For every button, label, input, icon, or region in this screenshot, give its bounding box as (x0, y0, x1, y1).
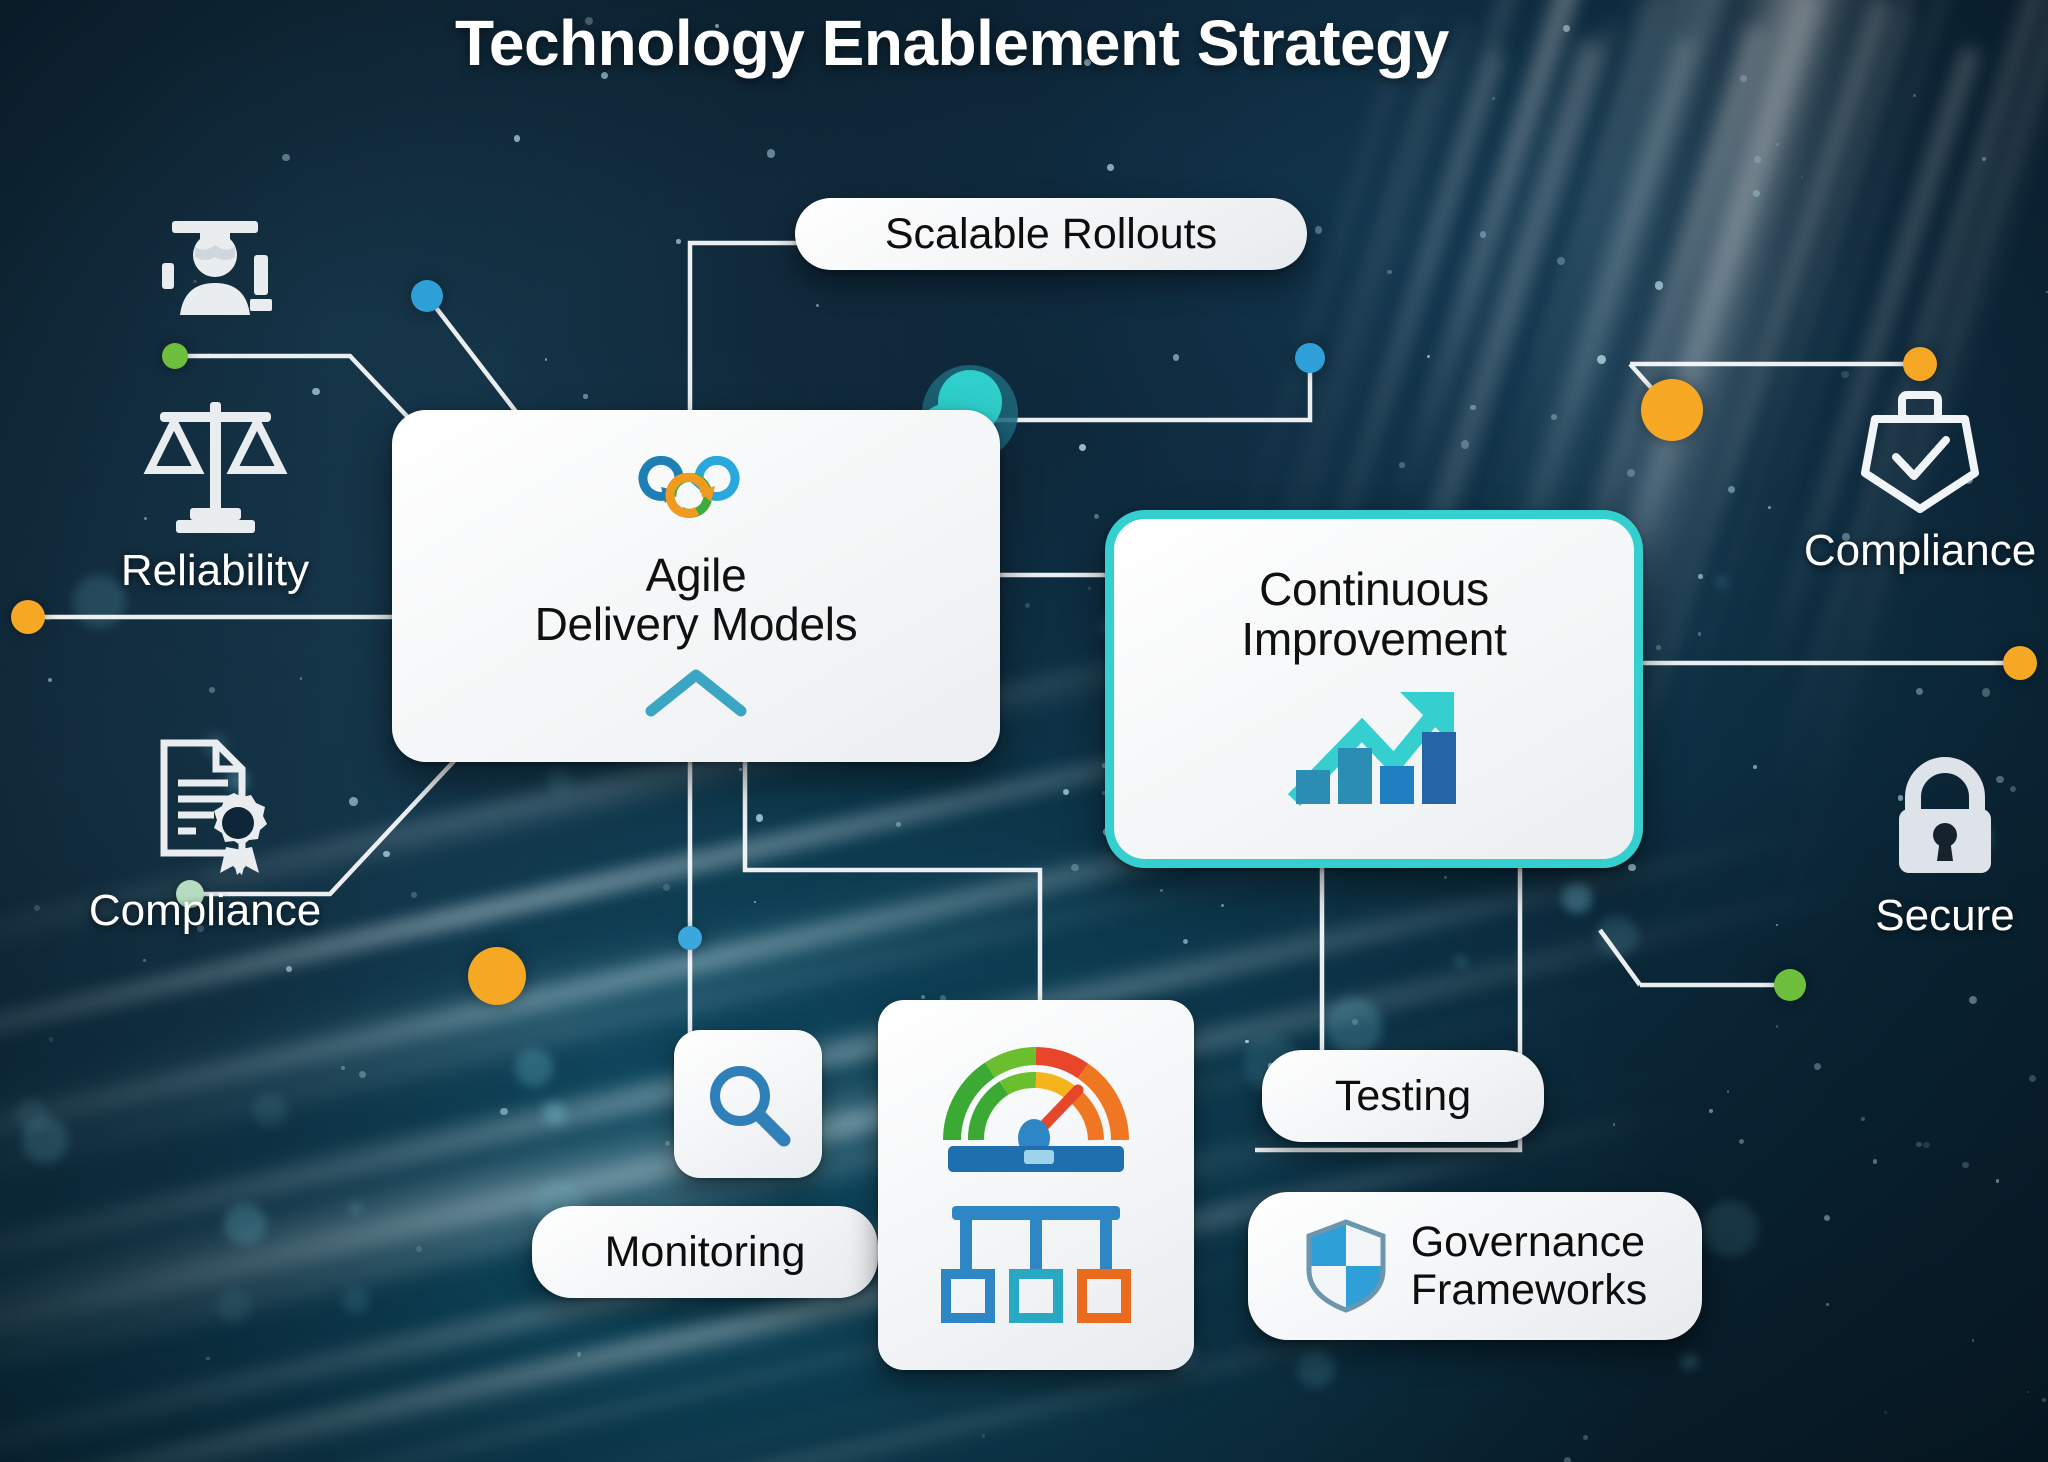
connector-node (1641, 379, 1703, 441)
side-item-compliance-left: Compliance (60, 735, 350, 936)
pill-testing[interactable]: Testing (1262, 1050, 1544, 1142)
card-agile-title-line2: Delivery Models (535, 600, 858, 649)
four-circular-arrows-icon (637, 449, 755, 541)
balance-scales-icon (138, 390, 293, 540)
hierarchy-org-chart-icon (938, 1198, 1134, 1326)
side-item-secure: Secure (1845, 755, 2045, 941)
pill-scalable-rollouts[interactable]: Scalable Rollouts (795, 198, 1307, 270)
padlock-icon (1885, 755, 2005, 885)
infographic-canvas: Technology Enablement Strategy (0, 0, 2048, 1462)
side-label-reliability: Reliability (121, 546, 309, 596)
card-ci-title-line1: Continuous (1241, 565, 1506, 614)
connector-node (162, 343, 188, 369)
connector-node (411, 280, 443, 312)
pill-governance-frameworks[interactable]: Governance Frameworks (1248, 1192, 1702, 1340)
side-label-compliance-left: Compliance (89, 886, 321, 936)
shield-icon (1303, 1218, 1389, 1314)
card-ci-title: Continuous Improvement (1241, 565, 1506, 663)
pill-testing-label: Testing (1335, 1072, 1471, 1121)
pill-governance-label-line2: Frameworks (1411, 1266, 1648, 1314)
connector-node (11, 600, 45, 634)
side-label-compliance-right: Compliance (1804, 526, 2036, 576)
side-item-compliance-right: Compliance (1800, 385, 2040, 576)
pill-governance-label: Governance Frameworks (1411, 1218, 1648, 1314)
card-ci-title-line2: Improvement (1241, 615, 1506, 664)
connector-node (1295, 343, 1325, 373)
pill-scalable-rollouts-label: Scalable Rollouts (885, 210, 1217, 259)
tile-search[interactable] (674, 1030, 822, 1178)
gauge-speedometer-icon (938, 1044, 1134, 1172)
judge-person-icon (150, 215, 280, 320)
card-agile-title: Agile Delivery Models (535, 551, 858, 649)
pill-monitoring[interactable]: Monitoring (532, 1206, 878, 1298)
pill-governance-label-line1: Governance (1411, 1218, 1648, 1266)
side-item-reliability: Reliability (85, 390, 345, 596)
card-agile-title-line1: Agile (535, 551, 858, 600)
side-label-secure: Secure (1875, 891, 2014, 941)
growth-bar-chart-arrow-icon (1282, 678, 1467, 813)
card-continuous-improvement[interactable]: Continuous Improvement (1105, 510, 1643, 868)
connector-node (678, 926, 702, 950)
chevron-up-icon (641, 663, 751, 723)
connector-node (1903, 347, 1937, 381)
connector-node (1774, 969, 1806, 1001)
certificate-document-icon (130, 735, 280, 880)
badge-check-shield-icon (1850, 385, 1990, 520)
card-agile-delivery-models[interactable]: Agile Delivery Models (392, 410, 1000, 762)
connector-node (2003, 646, 2037, 680)
side-item-judge (100, 215, 330, 320)
magnifier-icon (702, 1058, 794, 1150)
connector-node (468, 947, 526, 1005)
tile-metrics[interactable] (878, 1000, 1194, 1370)
pill-monitoring-label: Monitoring (605, 1228, 806, 1277)
